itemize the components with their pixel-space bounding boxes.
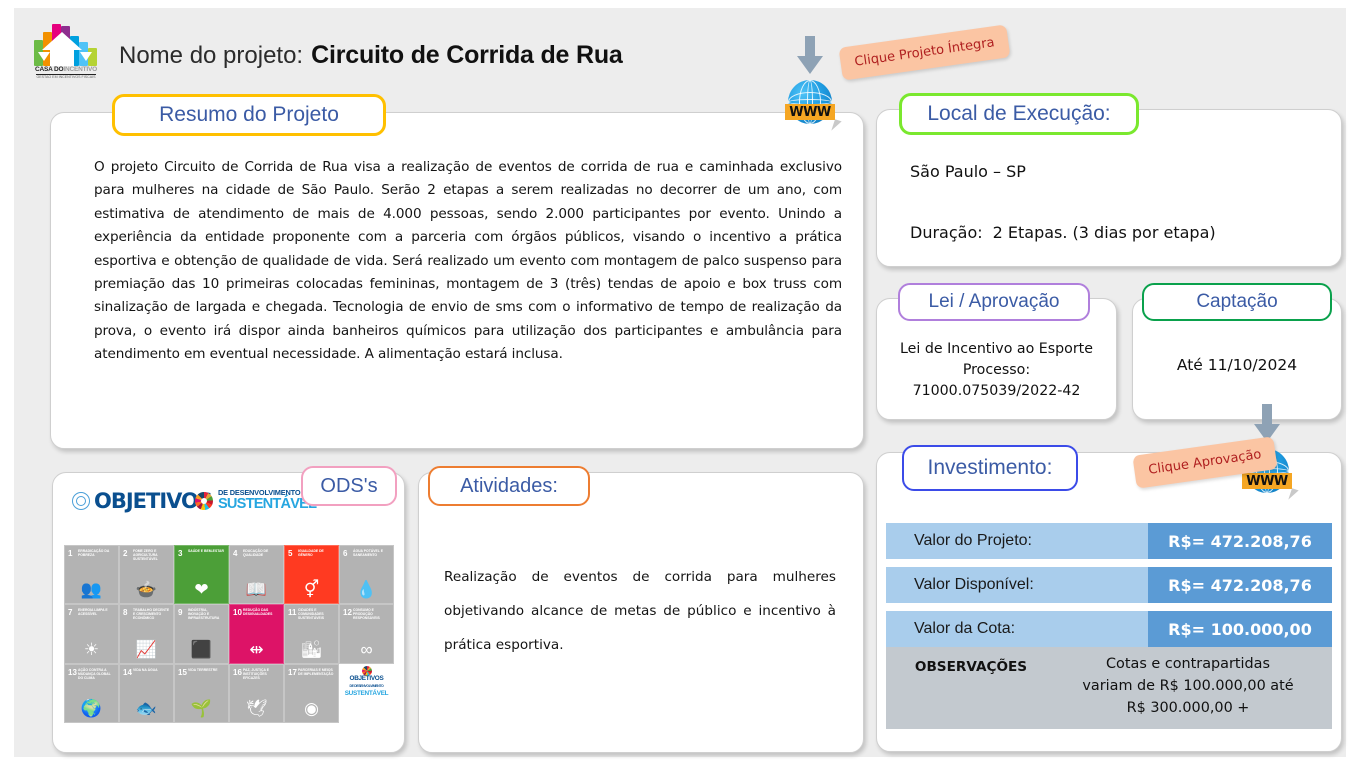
row-label: Valor da Cota: [886, 611, 1148, 647]
ods-goal-title: IGUALDADE DE GÊNERO [298, 549, 336, 557]
ods-goal-13: 13AÇÃO CONTRA A MUDANÇA GLOBAL DO CLIMA🌍 [64, 664, 119, 723]
local-execucao-badge: Local de Execução: [899, 93, 1139, 135]
poster-canvas: CASA DOINCENTIVO GESTAO EM INCENTIVOS FI… [14, 8, 1346, 757]
ods-goal-number: 16 [233, 668, 242, 677]
local-duration-row: Duração:2 Etapas. (3 dias por etapa) [910, 223, 1216, 242]
ods-goal-icon: ◉ [285, 700, 338, 718]
ods-goal-title: PAZ, JUSTIÇA E INSTITUIÇÕES EFICAZES [243, 668, 281, 680]
ods-goal-number: 10 [233, 608, 242, 617]
ods-goal-10: 10REDUÇÃO DAS DESIGUALDADES⇹ [229, 604, 284, 663]
ods-goal-icon: 💧 [340, 581, 393, 599]
investimento-table: Valor do Projeto: R$= 472.208,76 Valor D… [886, 523, 1332, 729]
resumo-badge: Resumo do Projeto [112, 94, 386, 136]
lei-aprovacao-badge: Lei / Aprovação [898, 283, 1090, 321]
ods-goal-number: 8 [123, 608, 127, 617]
ods-goal-number: 7 [68, 608, 72, 617]
ods-goal-12: 12CONSUMO E PRODUÇÃO RESPONSÁVEIS∞ [339, 604, 394, 663]
ods-goal-number: 13 [68, 668, 77, 677]
lei-line-3: 71000.075039/2022-42 [880, 381, 1113, 402]
row-value: R$= 472.208,76 [1148, 567, 1332, 603]
ods-tile-wordmark: OBJETIVOSDE DESENVOLVIMENTOSUSTENTÁVEL [340, 675, 393, 697]
lei-aprovacao-text: Lei de Incentivo ao Esporte Processo: 71… [880, 339, 1113, 402]
ods-goal-number: 11 [288, 608, 296, 617]
ods-goal-icon: 📈 [120, 641, 173, 659]
ods-goal-icon: ∞ [340, 641, 393, 659]
resumo-text: O projeto Circuito de Corrida de Rua vis… [94, 156, 842, 367]
logo-subtitle: GESTAO EM INCENTIVOS FISCAIS [32, 75, 100, 79]
ods-goal-number: 2 [123, 549, 127, 558]
lei-line-1: Lei de Incentivo ao Esporte [880, 339, 1113, 360]
ods-goal-3: 3SAÚDE E BEM-ESTAR❤ [174, 545, 229, 604]
row-label: Valor do Projeto: [886, 523, 1148, 559]
ods-goal-number: 14 [123, 668, 132, 677]
ods-goal-5: 5IGUALDADE DE GÊNERO⚥ [284, 545, 339, 604]
logo-wordmark: CASA DOINCENTIVO [32, 66, 100, 73]
ods-goal-7: 7ENERGIA LIMPA E ACESSÍVEL☀ [64, 604, 119, 663]
ods-goal-16: 16PAZ, JUSTIÇA E INSTITUIÇÕES EFICAZES🕊 [229, 664, 284, 723]
ods-goal-title: VIDA TERRESTRE [188, 668, 226, 672]
ods-goal-title: PARCERIAS E MEIOS DE IMPLEMENTAÇÃO [298, 668, 336, 676]
ods-goal-4: 4EDUCAÇÃO DE QUALIDADE📖 [229, 545, 284, 604]
ods-goal-6: 6ÁGUA POTÁVEL E SANEAMENTO💧 [339, 545, 394, 604]
globe-www-icon-projeto[interactable]: WWW [784, 78, 836, 130]
sticker-clique-projeto-integra[interactable]: Clique Projeto Íntegra [839, 24, 1011, 80]
logo-house-roof [42, 32, 82, 50]
table-row: Valor do Projeto: R$= 472.208,76 [886, 523, 1332, 559]
ods-goal-number: 15 [178, 668, 187, 677]
ods-goal-icon: 🌱 [175, 700, 228, 718]
ods-goal-title: SAÚDE E BEM-ESTAR [188, 549, 226, 553]
ods-goal-title: ERRADICAÇÃO DA POBREZA [78, 549, 116, 557]
ods-goal-icon: ❤ [175, 581, 228, 599]
local-city-value: São Paulo – SP [910, 162, 1026, 181]
ods-goal-icon: ⇹ [230, 641, 283, 659]
ods-goal-title: TRABALHO DECENTE E CRESCIMENTO ECONÔMICO [133, 608, 171, 620]
ods-goal-icon: 🕊 [230, 700, 283, 718]
casa-do-incentivo-logo: CASA DOINCENTIVO GESTAO EM INCENTIVOS FI… [30, 22, 102, 84]
observacoes-row: OBSERVAÇÕES Cotas e contrapartidas varia… [886, 647, 1332, 729]
ods-goal-icon: 👥 [65, 581, 118, 599]
ods-goal-title: VIDA NA ÁGUA [133, 668, 171, 672]
atividades-text: Realização de eventos de corrida para mu… [444, 560, 836, 662]
ods-goal-title: CIDADES E COMUNIDADES SUSTENTÁVEIS [298, 608, 336, 620]
observacoes-label: OBSERVAÇÕES [886, 653, 1056, 719]
ods-goal-title: CONSUMO E PRODUÇÃO RESPONSÁVEIS [353, 608, 391, 620]
table-row: Valor da Cota: R$= 100.000,00 [886, 611, 1332, 647]
atividades-badge: Atividades: [428, 466, 590, 506]
ods-goal-icon: 🏙 [285, 641, 338, 659]
ods-goal-number: 1 [68, 549, 72, 558]
observacoes-value: Cotas e contrapartidas variam de R$ 100.… [1056, 653, 1332, 719]
observacoes-line-3: R$ 300.000,00 + [1056, 697, 1320, 719]
ods-goal-number: 5 [288, 549, 292, 558]
table-row: Valor Disponível: R$= 472.208,76 [886, 567, 1332, 603]
observacoes-line-1: Cotas e contrapartidas [1056, 653, 1320, 675]
logo-wordmark-gray: INCENTIVO [63, 66, 97, 73]
captacao-badge: Captação [1142, 283, 1332, 321]
observacoes-line-2: variam de R$ 100.000,00 até [1056, 675, 1320, 697]
ods-goal-number: 3 [178, 549, 182, 558]
ods-goal-title: AÇÃO CONTRA A MUDANÇA GLOBAL DO CLIMA [78, 668, 116, 680]
ods-goal-number: 9 [178, 608, 182, 617]
arrow-down-icon-top [797, 36, 823, 76]
ods-goal-icon: ☀ [65, 641, 118, 659]
sdg-color-wheel-icon [195, 492, 213, 510]
ods-goal-number: 4 [233, 549, 237, 558]
ods-goal-title: INDÚSTRIA, INOVAÇÃO E INFRAESTRUTURA [188, 608, 226, 620]
ods-goal-title: EDUCAÇÃO DE QUALIDADE [243, 549, 281, 557]
ods-goal-icon: 🌍 [65, 700, 118, 718]
row-value: R$= 472.208,76 [1148, 523, 1332, 559]
captacao-value: Até 11/10/2024 [1132, 356, 1342, 374]
www-label-bottom: WWW [1242, 473, 1292, 489]
logo-house-body [50, 49, 74, 66]
ods-badge: ODS's [301, 466, 397, 506]
logo-arrow-right [80, 52, 92, 61]
ods-goal-icon: ⬛ [175, 641, 228, 659]
ods-goal-icon: ⚥ [285, 581, 338, 599]
un-emblem-icon [72, 492, 90, 510]
project-name: Circuito de Corrida de Rua [311, 41, 623, 69]
investimento-badge: Investimento: [902, 445, 1078, 491]
ods-goal-15: 15VIDA TERRESTRE🌱 [174, 664, 229, 723]
ods-goal-icon: 🐟 [120, 700, 173, 718]
ods-goal-1: 1ERRADICAÇÃO DA POBREZA👥 [64, 545, 119, 604]
logo-arrow-left [38, 52, 50, 61]
local-duration-value: 2 Etapas. (3 dias por etapa) [993, 223, 1216, 242]
ods-goal-8: 8TRABALHO DECENTE E CRESCIMENTO ECONÔMIC… [119, 604, 174, 663]
ods-goal-title: REDUÇÃO DAS DESIGUALDADES [243, 608, 281, 616]
ods-goal-17: 17PARCERIAS E MEIOS DE IMPLEMENTAÇÃO◉ [284, 664, 339, 723]
ods-goal-title: ÁGUA POTÁVEL E SANEAMENTO [353, 549, 391, 557]
ods-logo-tile: OBJETIVOSDE DESENVOLVIMENTOSUSTENTÁVEL [339, 664, 394, 723]
ods-goal-11: 11CIDADES E COMUNIDADES SUSTENTÁVEIS🏙 [284, 604, 339, 663]
ods-goal-title: ENERGIA LIMPA E ACESSÍVEL [78, 608, 116, 616]
project-label: Nome do projeto: [119, 42, 303, 69]
ods-goal-number: 12 [343, 608, 352, 617]
www-label-top: WWW [785, 104, 835, 120]
local-duration-label: Duração: [910, 223, 983, 242]
logo-wordmark-main: CASA DO [35, 66, 63, 73]
project-title-line: Nome do projeto:Circuito de Corrida de R… [119, 41, 623, 70]
ods-logo: OBJETIVOS DE DESENVOLVIMENTO SUSTENTÁVEL [72, 488, 308, 514]
ods-goal-number: 6 [343, 549, 347, 558]
ods-goal-icon: 🍲 [120, 581, 173, 599]
row-value: R$= 100.000,00 [1148, 611, 1332, 647]
row-label: Valor Disponível: [886, 567, 1148, 603]
lei-line-2: Processo: [880, 360, 1113, 381]
ods-goal-2: 2FOME ZERO E AGRICULTURA SUSTENTÁVEL🍲 [119, 545, 174, 604]
ods-goal-number: 17 [288, 668, 297, 677]
ods-goal-grid: 1ERRADICAÇÃO DA POBREZA👥2FOME ZERO E AGR… [64, 545, 394, 723]
ods-goal-9: 9INDÚSTRIA, INOVAÇÃO E INFRAESTRUTURA⬛ [174, 604, 229, 663]
ods-goal-icon: 📖 [230, 581, 283, 599]
ods-goal-title: FOME ZERO E AGRICULTURA SUSTENTÁVEL [133, 549, 171, 561]
ods-goal-14: 14VIDA NA ÁGUA🐟 [119, 664, 174, 723]
